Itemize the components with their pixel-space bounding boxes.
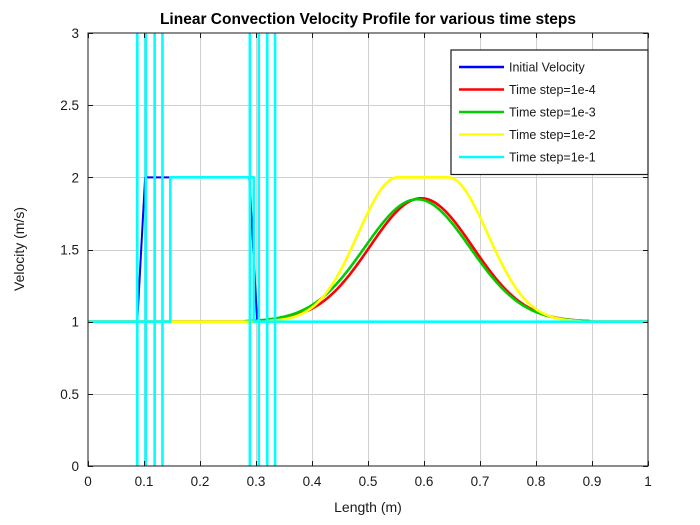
x-tick-label: 0.9 [583, 474, 602, 489]
y-tick-label: 1.5 [60, 243, 79, 258]
legend-item-label: Time step=1e-4 [509, 83, 596, 97]
legend-item-label: Time step=1e-1 [509, 151, 596, 165]
legend-item-label: Initial Velocity [509, 61, 585, 75]
figure-window: Linear Convection Velocity Profile for v… [0, 0, 700, 525]
x-tick-label: 0.5 [359, 474, 378, 489]
x-tick-label: 0.7 [471, 474, 490, 489]
x-axis-tick-labels: 00.10.20.30.40.50.60.70.80.91 [84, 474, 652, 489]
x-tick-label: 0.2 [191, 474, 210, 489]
y-tick-label: 0 [71, 459, 79, 474]
y-tick-label: 2.5 [60, 98, 79, 113]
legend-item-label: Time step=1e-3 [509, 106, 596, 120]
y-tick-label: 2 [71, 170, 79, 185]
chart-legend[interactable]: Initial VelocityTime step=1e-4Time step=… [451, 50, 648, 175]
chart-title: Linear Convection Velocity Profile for v… [160, 11, 576, 28]
chart-canvas: Linear Convection Velocity Profile for v… [0, 0, 700, 525]
y-axis-tick-labels: 00.511.522.53 [60, 26, 79, 474]
x-tick-label: 0 [84, 474, 92, 489]
y-axis-label: Velocity (m/s) [11, 207, 27, 291]
legend-item-label: Time step=1e-2 [509, 128, 596, 142]
x-tick-label: 0.1 [135, 474, 154, 489]
x-tick-label: 0.4 [303, 474, 322, 489]
x-tick-label: 0.6 [415, 474, 434, 489]
y-tick-label: 3 [71, 26, 79, 41]
y-tick-label: 0.5 [60, 387, 79, 402]
x-tick-label: 0.8 [527, 474, 546, 489]
x-tick-label: 1 [644, 474, 652, 489]
y-tick-label: 1 [71, 315, 79, 330]
x-axis-label: Length (m) [334, 499, 402, 515]
x-tick-label: 0.3 [247, 474, 266, 489]
